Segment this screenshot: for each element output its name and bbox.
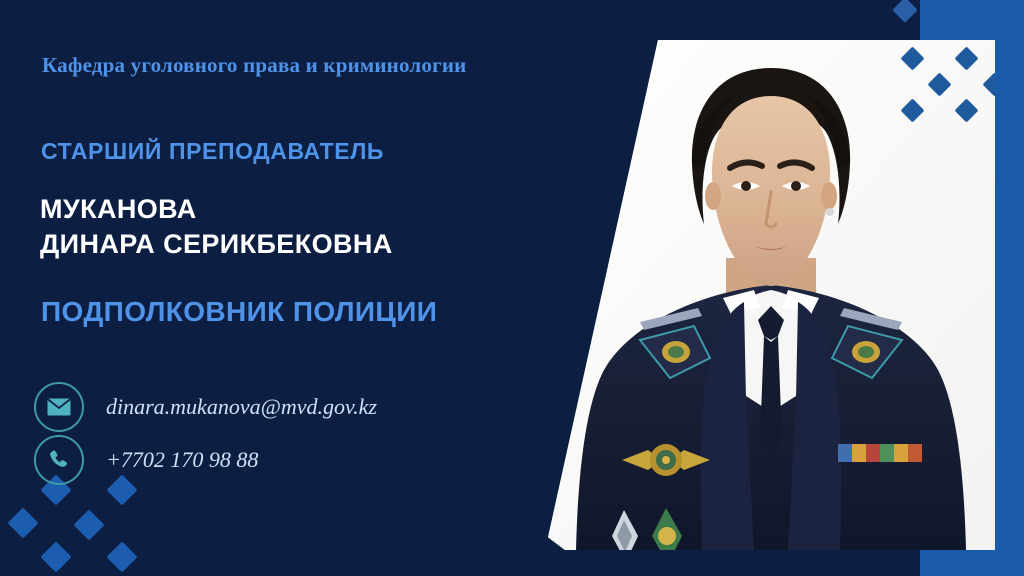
diamond-icon-corner-5	[40, 541, 71, 572]
phone-icon	[34, 435, 84, 485]
person-name: МУКАНОВА ДИНАРА СЕРИКБЕКОВНА	[40, 192, 393, 262]
email-value[interactable]: dinara.mukanova@mvd.gov.kz	[106, 394, 377, 420]
envelope-icon	[34, 382, 84, 432]
police-rank-label: ПОДПОЛКОВНИК ПОЛИЦИИ	[41, 296, 437, 328]
department-title: Кафедра уголовного права и криминологии	[42, 53, 466, 78]
person-surname: МУКАНОВА	[40, 192, 393, 227]
phone-glyph	[47, 448, 71, 472]
portrait-illustration	[548, 40, 995, 550]
contact-phone-row[interactable]: +7702 170 98 88	[34, 435, 258, 485]
diamond-icon-corner-6	[106, 541, 137, 572]
contact-email-row[interactable]: dinara.mukanova@mvd.gov.kz	[34, 382, 377, 432]
diamond-icon-top-right	[892, 0, 917, 23]
academic-rank-label: СТАРШИЙ ПРЕПОДАВАТЕЛЬ	[41, 138, 384, 165]
accent-strip-right	[995, 0, 1024, 576]
accent-block-bottom-right	[920, 548, 1024, 576]
person-given-names: ДИНАРА СЕРИКБЕКОВНА	[40, 227, 393, 262]
envelope-glyph	[47, 398, 71, 416]
diamond-icon-corner-3	[7, 507, 38, 538]
slide-root: Кафедра уголовного права и криминологии …	[0, 0, 1024, 576]
phone-value[interactable]: +7702 170 98 88	[106, 447, 258, 473]
diamond-icon-corner-4	[73, 509, 104, 540]
portrait-photo	[548, 40, 995, 550]
